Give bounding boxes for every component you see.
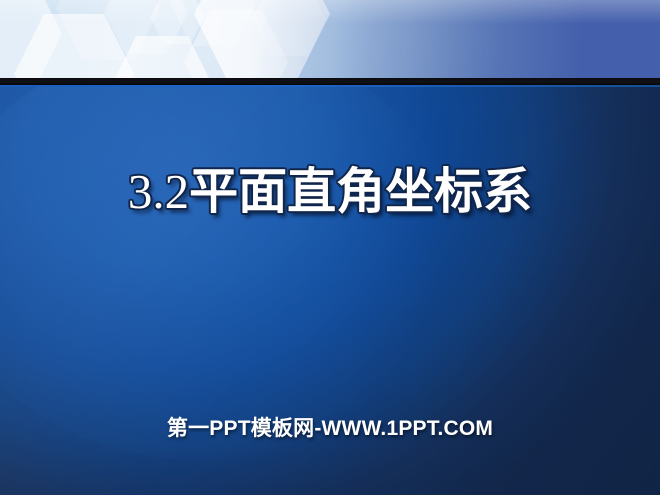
slide-title-section-number: 3.2 <box>128 164 189 219</box>
footer-credit: 第一PPT模板网-WWW.1PPT.COM <box>0 412 660 442</box>
slide-title: 3.2平面直角坐标系 <box>0 166 660 218</box>
header-top-sheen <box>0 0 660 24</box>
header-separator-highlight <box>0 85 660 87</box>
presentation-slide: 3.2平面直角坐标系 第一PPT模板网-WWW.1PPT.COM <box>0 0 660 495</box>
slide-header-band <box>0 0 660 79</box>
header-separator-bar <box>0 78 660 85</box>
slide-title-heading: 平面直角坐标系 <box>189 165 532 219</box>
